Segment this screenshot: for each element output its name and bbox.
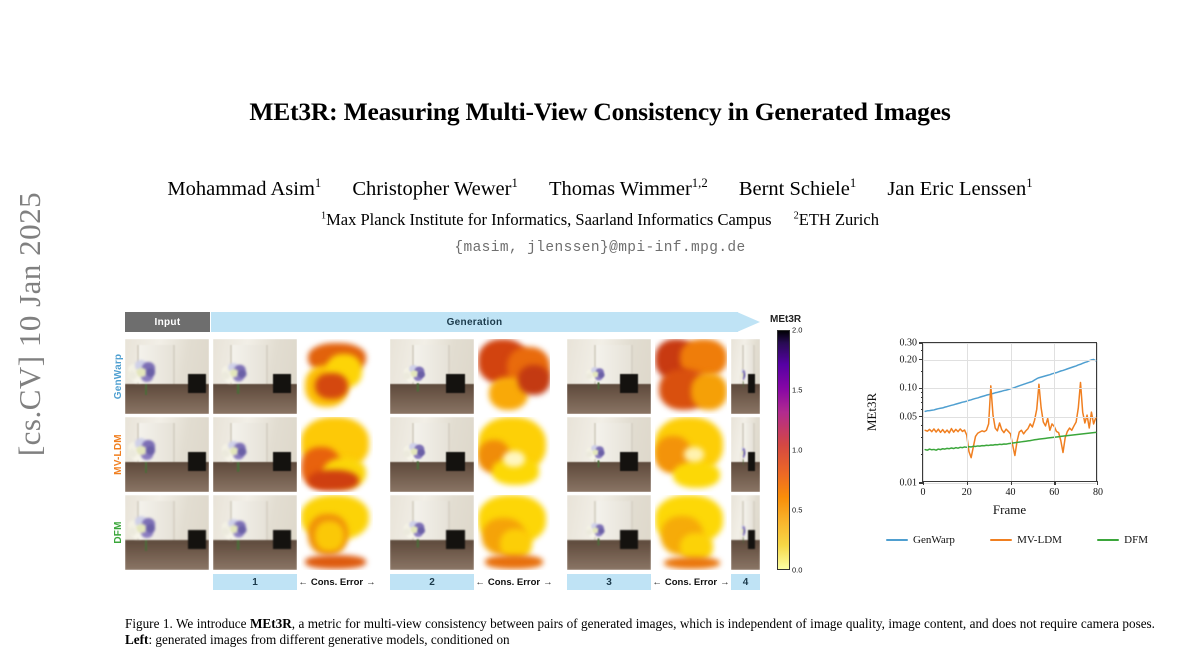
- grid-cell-error: [478, 339, 550, 414]
- author-1-sup: 1: [511, 176, 517, 190]
- plot-gridline-h: [923, 388, 1096, 389]
- colorbar-tick-0-5: 0.5: [792, 506, 802, 515]
- photo-floor: [731, 540, 760, 570]
- grid-cell-error: [301, 339, 373, 414]
- flower-petal: [146, 446, 156, 455]
- caption-bold-met3r: MEt3R: [250, 616, 292, 631]
- error-region: [664, 557, 720, 569]
- colorbar-tick-1-0: 1.0: [792, 446, 802, 455]
- flower-stem: [598, 538, 599, 545]
- plot-gridline-h: [923, 343, 1096, 344]
- author-3: Bernt Schiele1: [739, 178, 856, 200]
- rendered-photo: [390, 495, 474, 570]
- colorbar-tick-0-0: 0.0: [792, 566, 802, 575]
- photo-dark-object: [620, 452, 638, 472]
- grid-cell-error: [655, 417, 727, 492]
- rendered-photo: [390, 417, 474, 492]
- caption-mid: , a metric for multi-view consistency be…: [292, 616, 1155, 631]
- plot-xtick-label-80: 80: [1093, 487, 1103, 498]
- photo-bouquet: [403, 441, 436, 470]
- legend-item-dfm: DFM: [1097, 534, 1148, 546]
- caption-prefix: Figure 1. We introduce: [125, 616, 250, 631]
- flower-petal: [146, 368, 156, 377]
- affiliation-list: 1Max Planck Institute for Informatics, S…: [60, 210, 1140, 230]
- grid-cell-image: [213, 495, 297, 570]
- rendered-photo: [567, 495, 651, 570]
- arrow-right-icon: →: [720, 577, 730, 588]
- arrow-right-icon: →: [366, 577, 376, 588]
- plot-xtick-mark: [1011, 481, 1012, 485]
- error-region: [305, 555, 366, 569]
- grid-cell-image: [125, 417, 209, 492]
- author-0-sup: 1: [315, 176, 321, 190]
- arrow-left-icon: ←: [298, 577, 308, 588]
- error-region: [684, 447, 704, 462]
- author-1: Christopher Wewer1: [352, 178, 517, 200]
- plot-ytick-label-0-05: 0.05: [900, 411, 918, 422]
- plot-ylabel: MEt3R: [864, 393, 880, 431]
- consistency-error-map: [478, 495, 550, 570]
- photo-dark-object: [273, 530, 291, 550]
- flower-stem: [237, 383, 239, 393]
- grid-cell-error: [301, 417, 373, 492]
- grid-row-mv-ldm: MV-LDM: [125, 417, 760, 492]
- affiliation-1-name: ETH Zurich: [799, 210, 879, 229]
- grid-cell-image: [213, 417, 297, 492]
- flower-petal: [221, 527, 230, 535]
- photo-bouquet: [221, 439, 259, 472]
- flower-stem: [417, 538, 419, 547]
- photo-dark-object: [446, 374, 464, 394]
- grid-cell-image: [213, 339, 297, 414]
- flower-stem: [145, 462, 147, 473]
- colorbar-tick-2-0: 2.0: [792, 326, 802, 335]
- flower-petal: [418, 370, 425, 377]
- flower-stem: [598, 382, 599, 389]
- rendered-photo: [390, 339, 474, 414]
- photo-bouquet: [221, 517, 259, 550]
- author-2: Thomas Wimmer1,2: [549, 178, 708, 200]
- plot-gridline-h: [923, 360, 1096, 361]
- qualitative-image-grid: GenWarpMV-LDMDFM: [125, 339, 760, 570]
- error-region: [518, 365, 550, 395]
- rendered-photo: [125, 417, 209, 492]
- flower-stem: [417, 382, 419, 391]
- plot-ytick-label-0-20: 0.20: [900, 354, 918, 365]
- author-4: Jan Eric Lenssen1: [887, 178, 1032, 200]
- photo-dark-object: [748, 374, 754, 394]
- author-2-name: Thomas Wimmer: [549, 178, 692, 200]
- flower-stem: [417, 460, 419, 469]
- plot-xtick-label-20: 20: [962, 487, 972, 498]
- flower-petal: [221, 449, 230, 457]
- flower-petal: [418, 526, 425, 533]
- plot-gridline-h: [923, 483, 1096, 484]
- plot-gridline-v: [1097, 343, 1098, 481]
- author-4-sup: 1: [1026, 176, 1032, 190]
- arxiv-stamp: [cs.CV] 10 Jan 2025: [0, 0, 60, 648]
- bottom-index-3: 3: [567, 574, 651, 590]
- plot-gridline-v: [923, 343, 924, 481]
- bottom-index-2: 2: [390, 574, 474, 590]
- grid-cell-image: [567, 339, 651, 414]
- flower-stem: [237, 539, 239, 549]
- grid-row-genwarp: GenWarp: [125, 339, 760, 414]
- row-label-genwarp: GenWarp: [111, 339, 125, 414]
- colorbar-ticks: 2.01.51.00.50.0: [792, 326, 820, 574]
- flower-petal: [229, 447, 238, 455]
- legend-label-dfm: DFM: [1124, 534, 1148, 546]
- figure-bottom-labels: 1234←Cons. Error→←Cons. Error→←Cons. Err…: [125, 574, 760, 590]
- cons-error-text: Cons. Error: [488, 577, 540, 588]
- rendered-photo: [567, 339, 651, 414]
- plot-gridline-h: [923, 417, 1096, 418]
- plot-gridline-v: [1011, 343, 1012, 481]
- colorbar-title: MEt3R: [770, 314, 801, 325]
- flower-stem: [237, 461, 239, 471]
- figure-caption: Figure 1. We introduce MEt3R, a metric f…: [125, 616, 1155, 647]
- photo-dark-object: [446, 452, 464, 472]
- row-label-dfm: DFM: [111, 495, 125, 570]
- cons-error-label-3: ←Cons. Error→: [655, 574, 727, 590]
- photo-bouquet: [127, 437, 171, 475]
- legend-item-genwarp: GenWarp: [886, 534, 955, 546]
- grid-cell-image: [390, 495, 474, 570]
- plot-ytick-label-0-10: 0.10: [900, 383, 918, 394]
- flower-petal: [740, 374, 742, 379]
- flower-petal: [237, 369, 245, 377]
- error-region: [673, 462, 720, 488]
- arrow-left-icon: ←: [475, 577, 485, 588]
- consistency-error-map: [301, 417, 373, 492]
- plot-xtick-label-60: 60: [1049, 487, 1059, 498]
- consistency-error-map: [478, 339, 550, 414]
- photo-dark-object: [620, 530, 638, 550]
- photo-bouquet: [221, 361, 259, 394]
- consistency-error-map: [301, 339, 373, 414]
- photo-bouquet: [403, 363, 436, 392]
- flower-petal: [229, 525, 238, 533]
- error-region: [308, 470, 358, 491]
- rendered-photo: [731, 339, 760, 414]
- photo-bouquet: [127, 359, 171, 397]
- rendered-photo: [213, 339, 297, 414]
- error-region: [503, 451, 525, 468]
- grid-cell-image: [567, 417, 651, 492]
- photo-dark-object: [748, 530, 754, 550]
- flower-petal: [221, 371, 230, 379]
- flower-petal: [743, 373, 745, 378]
- photo-bouquet: [403, 519, 436, 548]
- flower-petal: [237, 525, 245, 533]
- author-0: Mohammad Asim1: [167, 178, 321, 200]
- photo-bouquet: [586, 521, 614, 545]
- cons-error-text: Cons. Error: [665, 577, 717, 588]
- rendered-photo: [125, 495, 209, 570]
- grid-cell-error: [655, 339, 727, 414]
- rendered-photo: [213, 417, 297, 492]
- photo-dark-object: [273, 374, 291, 394]
- affiliation-0: 1Max Planck Institute for Informatics, S…: [321, 210, 772, 229]
- plot-gridline-v: [1054, 343, 1055, 481]
- generation-arrow-tip-icon: [737, 312, 760, 332]
- figure-1: Input Generation MEt3R GenWarpMV-LDMDFM …: [125, 312, 1155, 594]
- flower-petal: [599, 527, 605, 533]
- photo-dark-object: [446, 530, 464, 550]
- grid-cell-error: [655, 495, 727, 570]
- plot-ytick-label-0-01: 0.01: [900, 478, 918, 489]
- photo-bouquet: [740, 524, 748, 544]
- photo-bouquet: [127, 515, 171, 553]
- author-2-sup: 1,2: [692, 176, 708, 190]
- rendered-photo: [567, 417, 651, 492]
- photo-floor: [731, 384, 760, 414]
- grid-cell-image: [731, 417, 760, 492]
- grid-cell-error: [301, 495, 373, 570]
- plot-legend: GenWarpMV-LDMDFM: [886, 532, 1148, 548]
- photo-bouquet: [740, 368, 748, 388]
- legend-swatch-dfm: [1097, 539, 1119, 542]
- flower-stem: [145, 540, 147, 551]
- arrow-left-icon: ←: [652, 577, 662, 588]
- plot-xtick-label-0: 0: [921, 487, 926, 498]
- cons-error-text: Cons. Error: [311, 577, 363, 588]
- legend-label-mv-ldm: MV-LDM: [1017, 534, 1062, 546]
- plot-xtick-mark: [923, 481, 924, 485]
- error-region: [315, 521, 344, 551]
- affiliation-0-name: Max Planck Institute for Informatics, Sa…: [326, 210, 771, 229]
- error-region: [485, 555, 543, 569]
- plot-xtick-mark: [1097, 481, 1098, 485]
- author-3-sup: 1: [850, 176, 856, 190]
- flower-petal: [229, 369, 238, 377]
- consistency-error-map: [655, 417, 727, 492]
- author-list: Mohammad Asim1 Christopher Wewer1 Thomas…: [60, 176, 1140, 201]
- grid-cell-image: [731, 495, 760, 570]
- legend-swatch-mv-ldm: [990, 539, 1012, 542]
- rendered-photo: [731, 495, 760, 570]
- caption-suffix: : generated images from different genera…: [148, 632, 509, 647]
- photo-floor: [731, 462, 760, 492]
- flower-petal: [740, 452, 742, 457]
- grid-cell-image: [390, 339, 474, 414]
- photo-bouquet: [740, 446, 748, 466]
- legend-label-genwarp: GenWarp: [913, 534, 955, 546]
- rendered-photo: [125, 339, 209, 414]
- photo-bouquet: [586, 365, 614, 389]
- flower-petal: [599, 449, 605, 455]
- rendered-photo: [731, 417, 760, 492]
- photo-dark-object: [188, 374, 206, 394]
- contact-email: {masim, jlenssen}@mpi-inf.mpg.de: [60, 240, 1140, 256]
- bottom-index-4: 4: [731, 574, 760, 590]
- author-1-name: Christopher Wewer: [352, 178, 511, 200]
- legend-item-mv-ldm: MV-LDM: [990, 534, 1062, 546]
- error-region: [315, 373, 347, 399]
- colorbar-tick-1-5: 1.5: [792, 386, 802, 395]
- figure-banner: Input Generation: [125, 312, 760, 332]
- rendered-photo: [213, 495, 297, 570]
- photo-dark-object: [620, 374, 638, 394]
- page-title: MEt3R: Measuring Multi-View Consistency …: [60, 97, 1140, 127]
- paper-body: MEt3R: Measuring Multi-View Consistency …: [60, 0, 1200, 648]
- flower-petal: [743, 529, 745, 534]
- author-0-name: Mohammad Asim: [167, 178, 314, 200]
- grid-cell-image: [567, 495, 651, 570]
- flower-petal: [237, 447, 245, 455]
- flower-stem: [598, 460, 599, 467]
- plot-area: 0.010.050.100.200.30020406080: [922, 342, 1097, 482]
- consistency-error-map: [478, 417, 550, 492]
- error-region: [691, 373, 727, 411]
- flower-petal: [740, 530, 742, 535]
- colorbar-gradient: [777, 330, 790, 570]
- plot-ytick-label-0-30: 0.30: [900, 338, 918, 349]
- plot-xtick-label-40: 40: [1006, 487, 1016, 498]
- author-4-name: Jan Eric Lenssen: [887, 178, 1026, 200]
- photo-dark-object: [188, 530, 206, 550]
- arxiv-stamp-text: [cs.CV] 10 Jan 2025: [12, 192, 48, 456]
- plot-xtick-mark: [1054, 481, 1055, 485]
- flower-petal: [146, 524, 156, 533]
- grid-cell-image: [125, 339, 209, 414]
- flower-petal: [743, 451, 745, 456]
- flower-stem: [145, 384, 147, 395]
- cons-error-label-1: ←Cons. Error→: [301, 574, 373, 590]
- input-banner-label: Input: [125, 312, 210, 332]
- grid-cell-error: [478, 417, 550, 492]
- generation-banner-arrow: Generation: [211, 312, 760, 332]
- met3r-colorbar: 2.01.51.00.50.0: [777, 330, 822, 570]
- row-label-mv-ldm: MV-LDM: [111, 417, 125, 492]
- grid-row-dfm: DFM: [125, 495, 760, 570]
- bottom-index-1: 1: [213, 574, 297, 590]
- generation-banner-label: Generation: [211, 312, 738, 332]
- consistency-error-map: [301, 495, 373, 570]
- photo-dark-object: [273, 452, 291, 472]
- grid-cell-image: [125, 495, 209, 570]
- consistency-error-map: [655, 495, 727, 570]
- consistency-error-map: [655, 339, 727, 414]
- plot-xlabel: Frame: [922, 502, 1097, 518]
- photo-bouquet: [586, 443, 614, 467]
- plot-gridline-v: [967, 343, 968, 481]
- cons-error-label-2: ←Cons. Error→: [478, 574, 550, 590]
- photo-dark-object: [188, 452, 206, 472]
- met3r-frame-plot: MEt3R 0.010.050.100.200.30020406080 Fram…: [870, 336, 1155, 571]
- grid-cell-image: [731, 339, 760, 414]
- caption-bold-left: Left: [125, 632, 148, 647]
- flower-petal: [418, 448, 425, 455]
- arrow-right-icon: →: [543, 577, 553, 588]
- grid-cell-error: [478, 495, 550, 570]
- affiliation-1: 2ETH Zurich: [794, 210, 879, 229]
- plot-xtick-mark: [967, 481, 968, 485]
- author-3-name: Bernt Schiele: [739, 178, 850, 200]
- legend-swatch-genwarp: [886, 539, 908, 542]
- grid-cell-image: [390, 417, 474, 492]
- flower-petal: [599, 371, 605, 377]
- photo-dark-object: [748, 452, 754, 472]
